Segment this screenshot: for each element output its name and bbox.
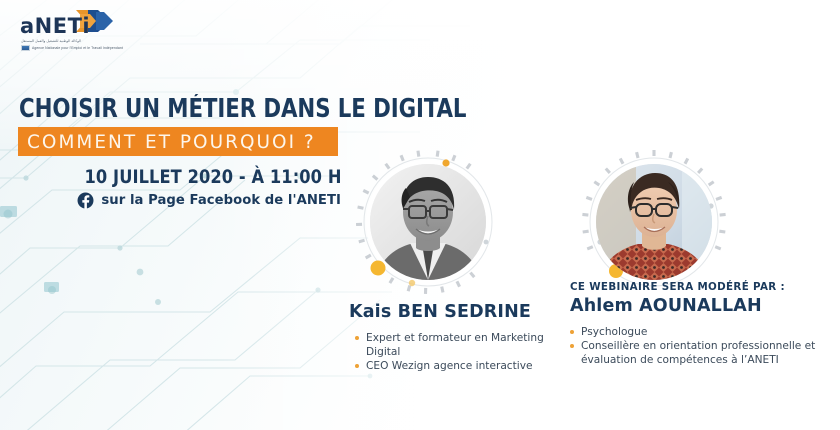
subtitle-banner: COMMENT ET POURQUOI ? [18, 127, 338, 156]
speaker-info-ahlem-aounallah: CE WEBINAIRE SERA MODÉRÉ PAR : Ahlem AOU… [570, 281, 830, 367]
subtitle-banner-text: COMMENT ET POURQUOI ? [27, 131, 316, 153]
list-item: Conseillère en orientation professionnel… [570, 339, 830, 367]
speaker-photo-kais-ben-sedrine [352, 146, 504, 298]
speaker-photo-ahlem-aounallah [578, 146, 730, 298]
webinar-poster: aNETi الوكالة الوطنية للتشغيل والعمل الم… [0, 0, 840, 430]
page-title: CHOISIR UN MÉTIER DANS LE DIGITAL [19, 96, 335, 122]
event-channel[interactable]: sur la Page Facebook de l'ANETI [19, 192, 341, 209]
logo-wordmark: aNETi [20, 16, 90, 37]
list-item: Expert et formateur en Marketing Digital [355, 331, 555, 359]
photo-ahlem-aounallah [596, 164, 712, 280]
facebook-icon[interactable] [77, 192, 94, 209]
list-item: Psychologue [570, 325, 830, 339]
moderator-label: CE WEBINAIRE SERA MODÉRÉ PAR : [570, 281, 830, 293]
event-datetime: 10 JUILLET 2020 - À 11:00 H [19, 166, 341, 188]
speaker-name: Kais BEN SEDRINE [325, 302, 555, 322]
event-channel-text: sur la Page Facebook de l'ANETI [101, 193, 341, 208]
speaker-credentials-list: Expert et formateur en Marketing Digital… [355, 331, 555, 373]
aneti-logo[interactable]: aNETi الوكالة الوطنية للتشغيل والعمل الم… [18, 8, 130, 52]
list-item: CEO Wezign agence interactive [355, 359, 555, 373]
speaker-name: Ahlem AOUNALLAH [570, 296, 830, 316]
event-datetime-text: 10 JUILLET 2020 - À 11:00 H [84, 166, 341, 188]
logo-subtitle-arabic: الوكالة الوطنية للتشغيل والعمل المستقل [21, 39, 81, 44]
logo-flag-badge [21, 45, 30, 51]
speaker-info-kais-ben-sedrine: Kais BEN SEDRINE Expert et formateur en … [325, 302, 555, 373]
speaker-credentials-list: Psychologue Conseillère en orientation p… [570, 325, 830, 367]
headline-block: CHOISIR UN MÉTIER DANS LE DIGITAL [19, 96, 359, 122]
photo-kais-ben-sedrine [370, 164, 486, 280]
logo-subtitle-french: Agence Nationale pour l'Emploi et le Tra… [32, 46, 123, 51]
